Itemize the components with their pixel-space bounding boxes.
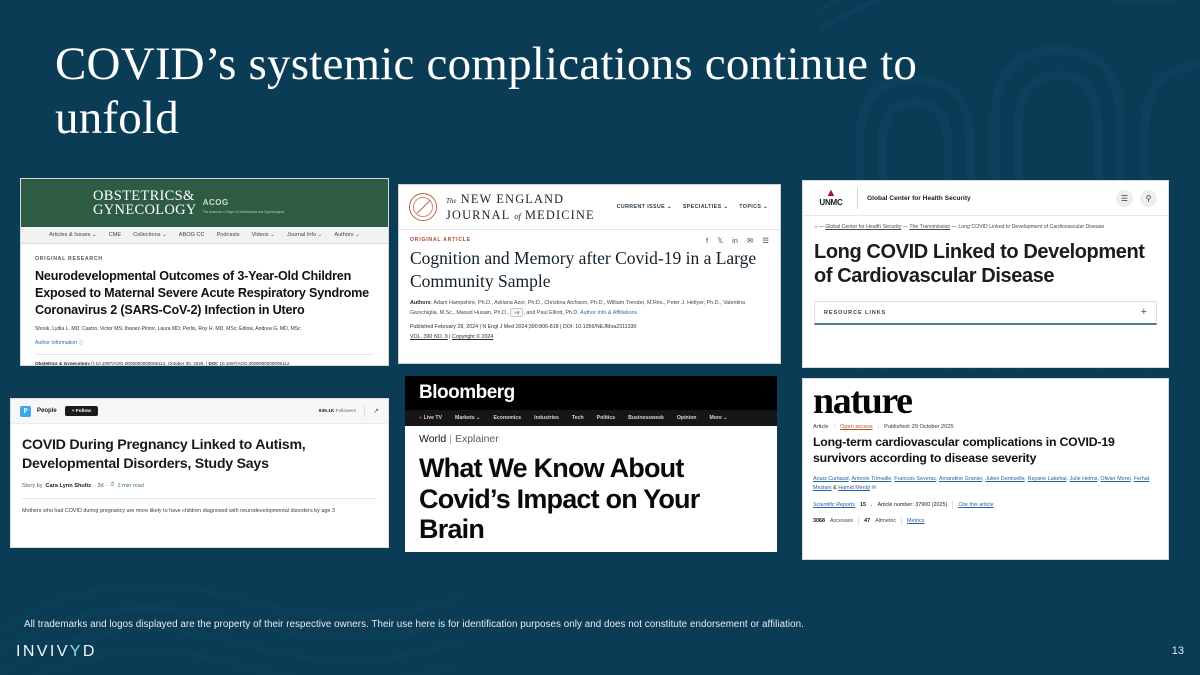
- nature-volume: 15: [860, 502, 866, 508]
- byline-author[interactable]: Cara Lynn Shultz: [46, 483, 91, 489]
- nejm-wordmark: The NEW ENGLAND JOURNAL of MEDICINE: [446, 192, 595, 223]
- divider: [901, 517, 902, 525]
- bloomberg-section[interactable]: World: [419, 433, 446, 445]
- nejm-article-title[interactable]: Cognition and Memory after Covid-19 in a…: [410, 247, 769, 292]
- bluesky-icon[interactable]: ☰: [762, 236, 769, 245]
- brand-part1: INVIV: [16, 643, 70, 661]
- people-source-bar: P People + Follow 939.1K Followers ↗: [11, 399, 388, 424]
- nejm-the: The: [446, 197, 457, 205]
- obgyn-nav-item[interactable]: Videos ⌄: [252, 232, 275, 238]
- obgyn-citation: Obstetrics & Gynecology ():10.1097/AOG.0…: [35, 354, 374, 366]
- bloomberg-nav-item-politics[interactable]: Politics: [597, 415, 615, 421]
- nature-author[interactable]: Anaïs Curtiaud: [813, 476, 849, 482]
- bloomberg-headline[interactable]: What We Know About Covid’s Impact on You…: [419, 453, 763, 545]
- breadcrumb-item-center[interactable]: Global Center for Health Security: [825, 224, 901, 230]
- nejm-seal-icon: [409, 193, 437, 221]
- invivyd-logo: INVIVYD: [16, 643, 97, 661]
- nejm-more-authors-chip[interactable]: +6: [510, 308, 523, 317]
- divider: [858, 517, 859, 525]
- hamburger-icon[interactable]: ☰: [1116, 190, 1133, 207]
- breadcrumb-item-transmission[interactable]: The Transmission: [909, 224, 950, 230]
- nature-author[interactable]: Rayane Lakehal: [1028, 476, 1067, 482]
- page-title: COVID’s systemic complications continue …: [55, 38, 1015, 145]
- nature-article-number: Article number: 37900 (2025): [877, 502, 947, 508]
- bloomberg-nav-item-more[interactable]: More ⌄: [709, 415, 727, 421]
- obgyn-kicker: ORIGINAL RESEARCH: [35, 256, 374, 262]
- nature-published-date: Published: 29 October 2025: [884, 424, 953, 430]
- nature-open-access-badge[interactable]: Open access: [840, 424, 873, 430]
- bloomberg-nav-item-businessweek[interactable]: Businessweek: [628, 415, 664, 421]
- nejm-authors-tail: , and Paul Elliott, Ph.D.: [523, 310, 578, 316]
- email-icon[interactable]: ✉: [871, 485, 876, 491]
- obgyn-nav-item[interactable]: Collections ⌄: [133, 232, 167, 238]
- nature-author[interactable]: Antonin Trimaille: [851, 476, 891, 482]
- bloomberg-nav-item-industries[interactable]: Industries: [534, 415, 559, 421]
- nejm-article: ORIGINAL ARTICLE f 𝕏 in ✉ ☰ Cognition an…: [399, 230, 780, 340]
- resource-links-accordion[interactable]: RESOURCE LINKS +: [814, 301, 1157, 325]
- cite-this-article-link[interactable]: Cite this article: [958, 502, 993, 508]
- unmc-divider: [857, 187, 858, 209]
- card-nejm[interactable]: The NEW ENGLAND JOURNAL of MEDICINE CURR…: [398, 184, 781, 364]
- obgyn-nav-item[interactable]: Podcasts: [217, 232, 240, 238]
- nejm-authors-label: Authors: [410, 300, 431, 306]
- clock-icon: ⏱: [110, 482, 114, 489]
- nature-author[interactable]: Francois Severac: [894, 476, 936, 482]
- divider: [364, 406, 365, 417]
- byline-age: · 3d ·: [94, 483, 107, 489]
- nejm-masthead: The NEW ENGLAND JOURNAL of MEDICINE CURR…: [399, 185, 780, 230]
- people-article-title[interactable]: COVID During Pregnancy Linked to Autism,…: [11, 424, 388, 473]
- altmetric-label: Altmetric: [875, 518, 896, 524]
- breadcrumb[interactable]: ⌂ — Global Center for Health Security — …: [803, 216, 1168, 231]
- nejm-nav-item-topics[interactable]: TOPICS ⌄: [739, 204, 768, 210]
- obgyn-logo-line2: GYNECOLOGY: [93, 203, 197, 218]
- people-dek: Mothers who had COVID during pregnancy a…: [11, 499, 388, 515]
- nejm-nav[interactable]: CURRENT ISSUE ⌄ SPECIALTIES ⌄ TOPICS ⌄: [617, 204, 770, 210]
- nature-article-type: Article: [813, 424, 829, 430]
- unmc-header: ▲ UNMC Global Center for Health Security…: [803, 181, 1168, 216]
- read-time: 2 min read: [117, 483, 143, 489]
- bloomberg-masthead: Bloomberg: [405, 376, 777, 410]
- followers-label: Followers: [336, 409, 357, 414]
- nature-author[interactable]: Julien Demiselle: [985, 476, 1024, 482]
- breadcrumb-item-current: Long COVID Linked to Development of Card…: [958, 224, 1104, 230]
- avatar: P: [20, 406, 31, 417]
- card-unmc-global-center[interactable]: ▲ UNMC Global Center for Health Security…: [802, 180, 1169, 368]
- accesses-count: 3068: [813, 518, 825, 524]
- acog-subtext: The American College of Obstetricians an…: [203, 210, 285, 214]
- linkedin-icon[interactable]: in: [732, 236, 738, 245]
- nature-journal-line: Scientific Reports 15, Article number: 3…: [803, 493, 1168, 509]
- facebook-icon[interactable]: f: [706, 236, 708, 245]
- slide: COVID’s systemic complications continue …: [0, 0, 1200, 675]
- nejm-authors: Authors: Adam Hampshire, Ph.D., Adriana …: [410, 299, 769, 317]
- followers-number: 939.1K: [319, 409, 334, 414]
- divider: [952, 501, 953, 509]
- altmetric-count: 47: [864, 518, 870, 524]
- obgyn-citation-rest: ():10.1097/AOG.0000000000006112, October…: [91, 361, 207, 366]
- unmc-logo[interactable]: ▲ UNMC: [814, 189, 848, 208]
- x-twitter-icon[interactable]: 𝕏: [717, 236, 723, 245]
- nejm-author-info-link[interactable]: Author Info & Affiliations: [580, 310, 637, 316]
- obgyn-logo-line1: OBSTETRICS&: [93, 189, 197, 204]
- obgyn-nav-item[interactable]: Journal Info ⌄: [287, 232, 322, 238]
- obgyn-nav-item[interactable]: Authors ⌄: [334, 232, 360, 238]
- nature-author[interactable]: Hamid Merdji: [838, 485, 870, 491]
- obgyn-masthead: OBSTETRICS& GYNECOLOGY ACOG The American…: [21, 179, 388, 227]
- unmc-n-mark-icon: ▲: [826, 189, 837, 199]
- nejm-wordmark-line1: The NEW ENGLAND: [446, 192, 595, 207]
- obgyn-article: ORIGINAL RESEARCH Neurodevelopmental Out…: [21, 244, 388, 366]
- nejm-journal: JOURNAL: [446, 208, 510, 222]
- divider: |: [834, 424, 835, 430]
- obgyn-article-title[interactable]: Neurodevelopmental Outcomes of 3-Year-Ol…: [35, 268, 374, 319]
- obgyn-citation-journal: Obstetrics & Gynecology: [35, 361, 90, 366]
- nature-author[interactable]: Amandine Granier: [939, 476, 982, 482]
- accesses-label: Accesses: [830, 518, 853, 524]
- ampersand: &: [833, 485, 837, 491]
- nejm-publication-info: Published February 28, 2024 | N Engl J M…: [410, 324, 769, 330]
- obgyn-nav-item[interactable]: ABOG CC: [179, 232, 205, 238]
- people-byline: Story by Cara Lynn Shultz · 3d · ⏱ 2 min…: [11, 473, 388, 489]
- nature-author[interactable]: Olivier Morel: [1100, 476, 1130, 482]
- nejm-nav-item-specialties[interactable]: SPECIALTIES ⌄: [683, 204, 728, 210]
- obgyn-doi-label: DOI:: [209, 361, 219, 366]
- card-bloomberg[interactable]: Bloomberg ● Live TV Markets ⌄ Economics …: [405, 376, 777, 552]
- nejm-copyright[interactable]: Copyright © 2024: [452, 334, 493, 340]
- bloomberg-section-separator: |: [449, 433, 452, 445]
- brand-part2: D: [83, 643, 97, 661]
- acog-mark: ACOG: [203, 198, 229, 207]
- obgyn-doi-value[interactable]: 10.1097/AOG.0000000000006112: [219, 361, 289, 366]
- bloomberg-article: World|Explainer What We Know About Covid…: [405, 426, 777, 552]
- people-source-name[interactable]: People: [37, 408, 57, 414]
- bloomberg-section-line: World|Explainer: [419, 433, 763, 445]
- followers-count: 939.1K Followers: [319, 409, 356, 414]
- nature-article-title[interactable]: Long-term cardiovascular complications i…: [803, 430, 1168, 467]
- brand-y-glyph: Y: [70, 643, 83, 661]
- bloomberg-nav-item-live-tv[interactable]: ● Live TV: [419, 415, 442, 421]
- nejm-share-bar[interactable]: f 𝕏 in ✉ ☰: [706, 236, 769, 245]
- home-icon[interactable]: ⌂: [814, 224, 817, 230]
- email-icon[interactable]: ✉: [747, 236, 753, 245]
- obgyn-nav-item[interactable]: CME: [109, 232, 121, 238]
- bloomberg-nav[interactable]: ● Live TV Markets ⌄ Economics Industries…: [405, 410, 777, 426]
- nejm-wordmark-line2: JOURNAL of MEDICINE: [446, 208, 595, 223]
- search-icon[interactable]: ⚲: [1140, 190, 1157, 207]
- follow-button[interactable]: + Follow: [65, 406, 98, 416]
- nature-wordmark[interactable]: nature: [803, 379, 1168, 420]
- resource-links-label: RESOURCE LINKS: [824, 310, 886, 316]
- unmc-center-name: Global Center for Health Security: [867, 195, 971, 202]
- nejm-volume[interactable]: VOL. 390 NO. 9: [410, 334, 448, 340]
- external-link-icon[interactable]: ↗: [373, 407, 379, 415]
- obgyn-authors: Shook, Lydia L. MD; Castro, Victor MS; I…: [35, 326, 374, 333]
- obgyn-author-information-link[interactable]: Author Information ⓘ: [35, 339, 374, 346]
- nature-journal-name[interactable]: Scientific Reports: [813, 502, 855, 508]
- nature-author[interactable]: Julie Helms: [1070, 476, 1098, 482]
- bloomberg-subsection[interactable]: Explainer: [455, 433, 499, 445]
- nature-metrics: 3068 Accesses 47 Altmetric Metrics: [803, 509, 1168, 525]
- nejm-of: of: [514, 212, 521, 221]
- nejm-volume-line: VOL. 390 NO. 9 | Copyright © 2024: [410, 334, 769, 340]
- acog-logo: ACOG The American College of Obstetricia…: [203, 192, 285, 214]
- metrics-link[interactable]: Metrics: [907, 518, 924, 524]
- plus-icon[interactable]: +: [1141, 307, 1147, 318]
- bloomberg-nav-item-opinion[interactable]: Opinion: [677, 415, 697, 421]
- divider: |: [878, 424, 879, 430]
- card-people-msn[interactable]: P People + Follow 939.1K Followers ↗ COV…: [10, 398, 389, 548]
- card-obstetrics-gynecology[interactable]: OBSTETRICS& GYNECOLOGY ACOG The American…: [20, 178, 389, 366]
- nejm-medicine: MEDICINE: [525, 208, 595, 222]
- card-nature[interactable]: nature Article | Open access | Published…: [802, 378, 1169, 560]
- bloomberg-wordmark[interactable]: Bloomberg: [419, 382, 515, 404]
- obgyn-logo: OBSTETRICS& GYNECOLOGY: [93, 189, 197, 218]
- obgyn-nav[interactable]: Articles & Issues ⌄ CME Collections ⌄ AB…: [21, 227, 388, 244]
- byline-prefix: Story by: [22, 483, 43, 489]
- nejm-nav-item-current-issue[interactable]: CURRENT ISSUE ⌄: [617, 204, 672, 210]
- unmc-header-actions[interactable]: ☰ ⚲: [1116, 190, 1157, 207]
- obgyn-nav-item[interactable]: Articles & Issues ⌄: [49, 232, 97, 238]
- nature-authors[interactable]: Anaïs Curtiaud, Antonin Trimaille, Franc…: [803, 467, 1168, 493]
- bloomberg-nav-item-economics[interactable]: Economics: [493, 415, 521, 421]
- trademark-disclaimer: All trademarks and logos displayed are t…: [24, 619, 804, 630]
- people-source-meta: 939.1K Followers ↗: [319, 406, 379, 417]
- nejm-new-england: NEW ENGLAND: [461, 192, 564, 206]
- unmc-logo-text: UNMC: [819, 198, 842, 207]
- bloomberg-nav-item-tech[interactable]: Tech: [572, 415, 584, 421]
- page-number: 13: [1172, 645, 1184, 657]
- bloomberg-nav-item-markets[interactable]: Markets ⌄: [455, 415, 480, 421]
- unmc-article-title: Long COVID Linked to Development of Card…: [803, 231, 1168, 288]
